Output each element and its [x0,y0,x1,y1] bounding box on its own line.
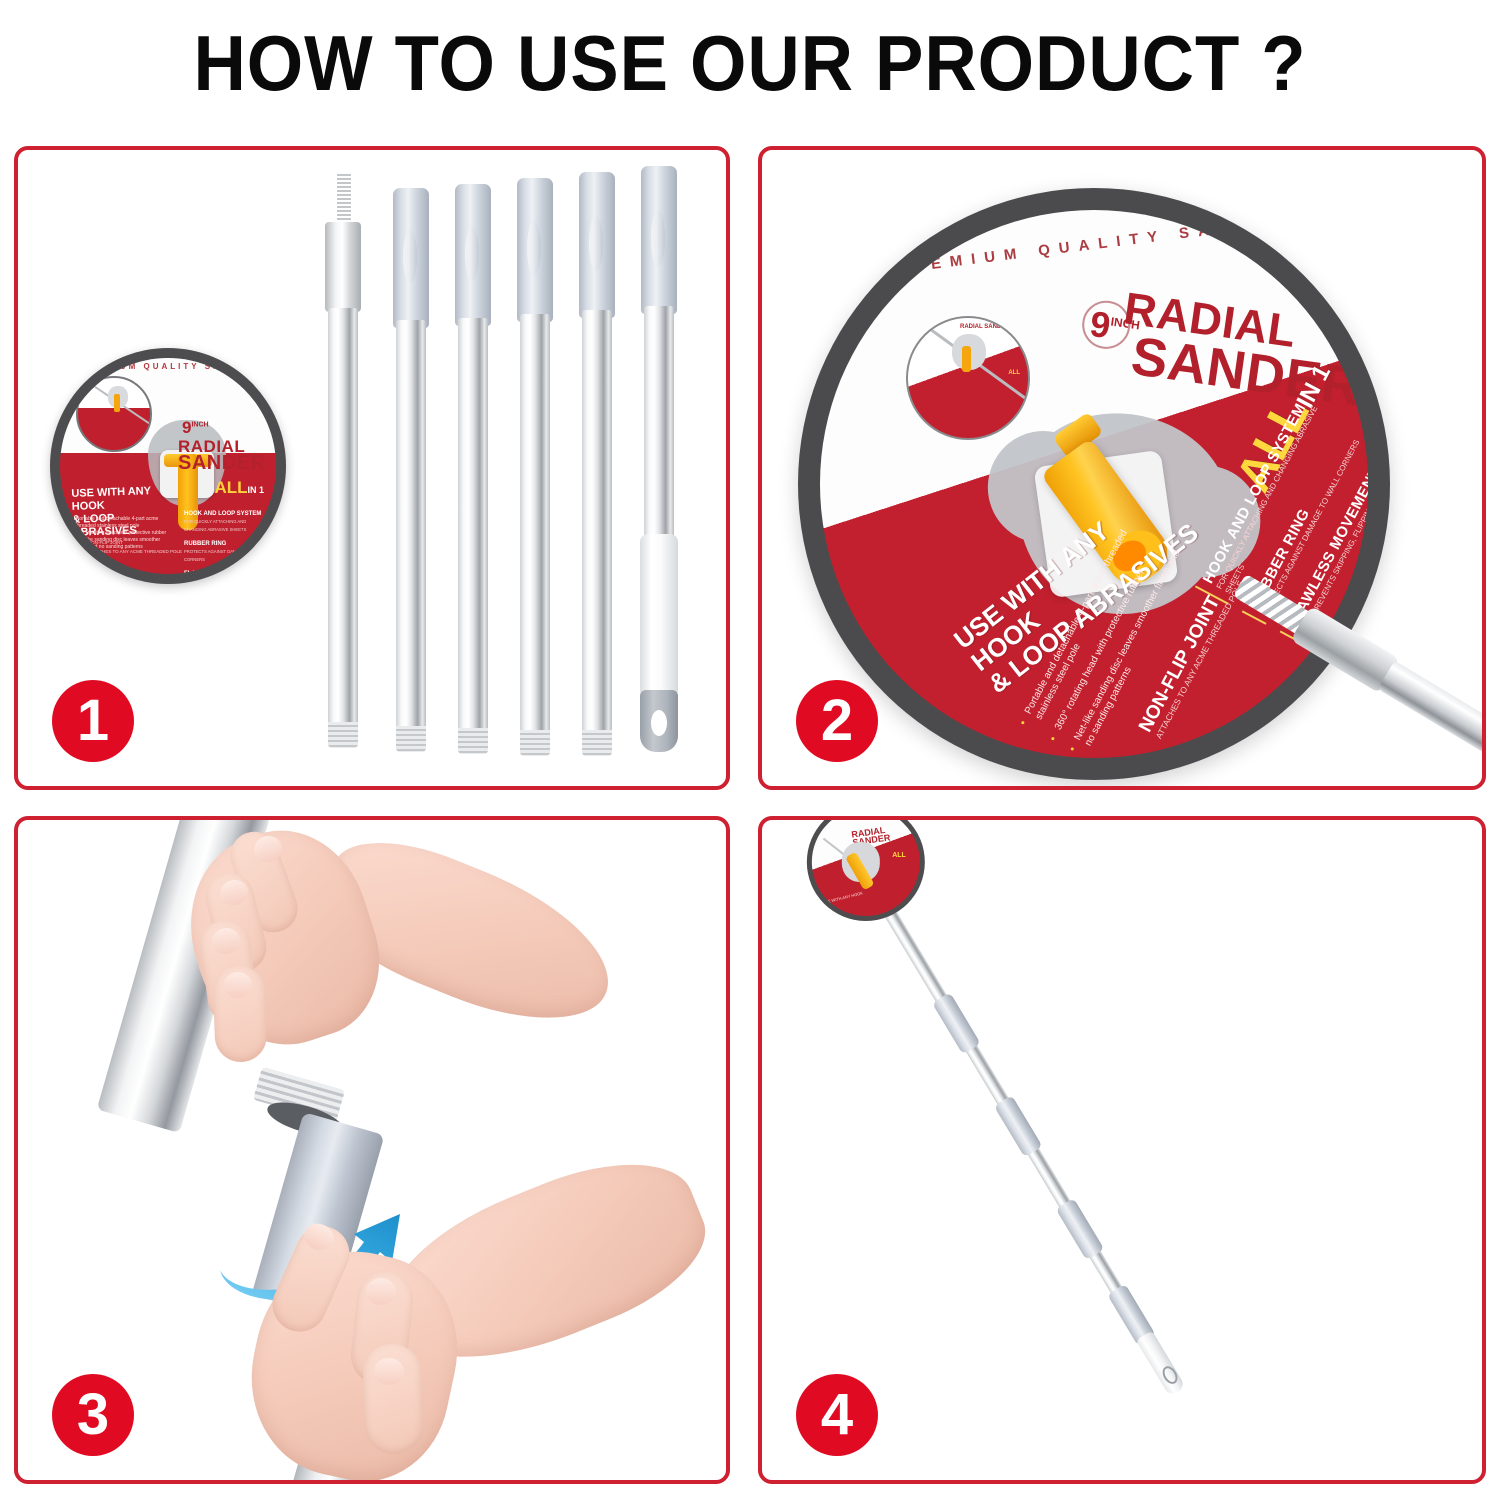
sander-head-attachment-illustration: PREMIUM QUALITY SANDER RADIAL SANDER ALL [762,150,1482,786]
step-badge-2: 2 [796,680,878,762]
feature-1: HOOK AND LOOP SYSTEM FOR QUICKLY ATTACHI… [184,510,268,534]
lower-nail-2 [366,1278,396,1305]
bullet-2: 360° rotating head with protective rubbe… [76,530,172,537]
plastic-coupler [393,188,429,328]
lower-nail-3 [374,1358,404,1385]
step-badge-1: 1 [52,680,134,762]
inset-brand-line-1: RADIAL [960,324,983,330]
bullet-1: Portable and detachable 4-part acme thre… [76,516,172,530]
acme-thread-tip [337,172,351,224]
page-title: HOW TO USE OUR PRODUCT ? [53,18,1448,109]
pole-joint-1 [932,992,981,1054]
steel-tube [520,314,550,734]
step-panel-1: PREMIUM QUALITY SANDER 9INCH RADIAL SAND… [14,146,730,790]
handle-end-cap-with-hang-hole [1136,1331,1186,1397]
step-badge-4: 4 [796,1374,878,1456]
tube-end-ring [458,728,488,754]
pole-segment-5 [582,172,612,762]
package-arc-text: PREMIUM QUALITY SANDER [821,210,1367,286]
steel-tube [1378,661,1486,790]
handle-grip [640,534,678,698]
inset-brand-line-2: SANDER [984,324,1009,330]
feature-2: RUBBER RING PROTECTS AGAINST DAMAGE TO W… [184,540,268,564]
inset-brand: RADIAL SANDER [960,324,1010,331]
product-package-disc-small: PREMIUM QUALITY SANDER 9INCH RADIAL SAND… [50,348,286,584]
step-panel-2: PREMIUM QUALITY SANDER RADIAL SANDER ALL [758,146,1486,790]
step-badge-3: 3 [52,1374,134,1456]
size-unit: INCH [191,421,208,428]
steel-tube [396,320,426,730]
package-label-face: PREMIUM QUALITY SANDER 9INCH RADIAL SAND… [60,358,276,574]
pole-segment-threaded [328,172,358,752]
pole-segment-3 [458,184,488,760]
package-brand: RADIAL SANDER [178,438,265,472]
handle-end-cap-with-hang-hole [640,690,678,752]
size-number: 9 [1087,303,1113,346]
non-flip-subtitle: ATTACHES TO ANY ACME THREADED POLE [88,547,182,556]
package-inset-photo: RADIAL SANDER ALL [906,316,1030,440]
step-panel-4: RADIAL SANDER ALL USE WITH ANY HOOK 4 [758,816,1486,1484]
pole-joint-3 [1056,1198,1105,1260]
pole-joint-2 [994,1095,1043,1157]
attached-sander-head-package: RADIAL SANDER ALL USE WITH ANY HOOK [807,816,925,921]
twist-assembly-illustration [18,820,726,1480]
plastic-coupler [517,178,553,322]
pole-handle-segment [644,166,674,762]
plastic-coupler [641,166,677,314]
package-size-label: 9INCH [182,418,209,438]
plastic-coupler [455,184,491,326]
tube-end-ring [520,730,550,756]
package-non-flip-joint: NON-FLIP JOINT ATTACHES TO ANY ACME THRE… [88,538,182,556]
tube-end-ring [582,730,612,756]
upper-nail-4 [224,972,252,998]
all-label: ALL [214,478,247,497]
package-all-in-one: ALLIN 1 [214,478,264,498]
pole-segment-2 [396,188,426,758]
inset-all-in-one: ALL [1008,370,1020,376]
tube-end-ring [396,726,426,752]
all-suffix: IN 1 [247,485,264,495]
feature-2-subtitle: PROTECTS AGAINST DAMAGE TO WALL CORNERS [184,548,268,564]
steel-tube [458,318,488,732]
pole-segment-4 [520,178,550,762]
feature-1-subtitle: FOR QUICKLY ATTACHING AND CHANGING ABRAS… [184,518,268,534]
steel-tube [644,306,674,542]
package-label-face: RADIAL SANDER ALL USE WITH ANY HOOK [812,816,920,916]
feature-3-title: FLAWLESS MOVEMENT [184,571,253,574]
brand-line-2: SANDER [178,455,265,472]
package-inset-photo [76,376,152,452]
steel-tube [582,310,612,734]
package-headline: USE WITH ANY HOOK [822,890,866,905]
headline-line-1: USE WITH ANY HOOK [71,484,178,514]
feature-1-title: HOOK AND LOOP SYSTEM [184,511,261,517]
inset-all-label: ALL [1008,370,1020,376]
tube-end-ring [328,722,358,748]
inset-yellow-connector [114,394,120,412]
package-arc-text: PREMIUM QUALITY SANDER [60,362,276,371]
step-panel-3: 3 [14,816,730,1484]
plastic-coupler [579,172,615,318]
package-label-face: PREMIUM QUALITY SANDER RADIAL SANDER ALL [820,210,1368,758]
pole-components-illustration: PREMIUM QUALITY SANDER 9INCH RADIAL SAND… [18,150,726,786]
assembled-product-illustration: RADIAL SANDER ALL USE WITH ANY HOOK [762,820,1482,1480]
non-flip-title: NON-FLIP JOINT [88,538,182,547]
inset-yellow-connector [962,346,971,372]
assembled-sander-pole: RADIAL SANDER ALL USE WITH ANY HOOK [843,852,1191,1395]
feature-2-title: RUBBER RING [184,541,226,547]
package-feature-list: HOOK AND LOOP SYSTEM FOR QUICKLY ATTACHI… [184,510,268,574]
product-package-disc-large: PREMIUM QUALITY SANDER RADIAL SANDER ALL [798,188,1390,780]
package-all-in-one: ALL [892,852,906,859]
metal-ferrule [325,222,361,312]
steel-tube [328,308,358,726]
feature-3: FLAWLESS MOVEMENT THAT PREVENTS SKIPPING… [184,570,268,574]
